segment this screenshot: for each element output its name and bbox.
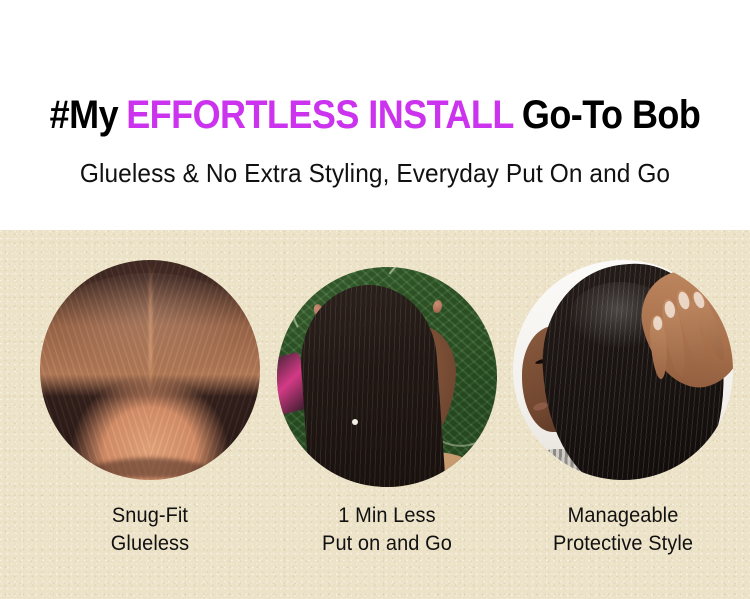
caption-line-2: Protective Style (495, 530, 750, 558)
feature-card: 1 Min Less Put on and Go (252, 267, 522, 558)
feature-card: Manageable Protective Style (488, 260, 750, 558)
headline: #MyEFFORTLESS INSTALLGo-To Bob (38, 95, 713, 135)
caption-line-1: Snug-Fit (22, 502, 279, 530)
feature-caption: Snug-Fit Glueless (22, 502, 279, 558)
hair-sheen (53, 273, 247, 374)
feature-card: Snug-Fit Glueless (15, 260, 285, 558)
fingernail (692, 290, 707, 309)
caption-line-1: 1 Min Less (259, 502, 516, 530)
subtitle: Glueless & No Extra Styling, Everyday Pu… (23, 160, 728, 186)
feature-panel: Snug-Fit Glueless (0, 230, 750, 599)
caption-line-1: Manageable (495, 502, 750, 530)
caption-line-2: Glueless (22, 530, 279, 558)
headline-part-2-accent: EFFORTLESS INSTALL (126, 93, 514, 137)
fingernail (663, 299, 676, 318)
feature-caption: 1 Min Less Put on and Go (259, 502, 516, 558)
headline-part-1: #My (50, 93, 118, 137)
fingernail (652, 316, 662, 331)
model-bob-foliage-photo (277, 267, 497, 487)
feature-caption: Manageable Protective Style (495, 502, 750, 558)
model-side-profile-photo (513, 260, 733, 480)
hairline-closeup-photo (40, 260, 260, 480)
banner-header: #MyEFFORTLESS INSTALLGo-To Bob Glueless … (0, 0, 750, 230)
headline-part-3: Go-To Bob (522, 93, 700, 137)
fingernail (676, 290, 691, 310)
caption-line-2: Put on and Go (259, 530, 516, 558)
earring (352, 419, 358, 425)
promo-banner: #MyEFFORTLESS INSTALLGo-To Bob Glueless … (0, 0, 750, 599)
